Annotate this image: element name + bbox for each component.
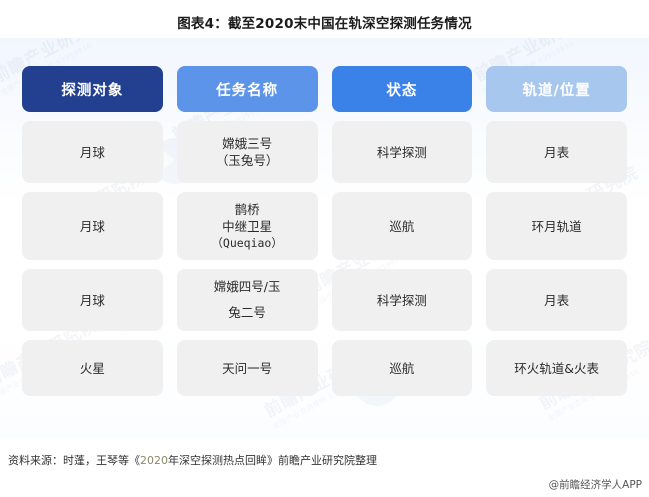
page-title: 图表4：截至2020末中国在轨深空探测任务情况 (0, 12, 649, 32)
cell-mission-line: 鹊桥 (211, 201, 282, 218)
table-row: 月球 嫦娥四号/玉 兔二号 科学探测 月表 (22, 269, 627, 331)
app-credit: @前瞻经济学人APP (549, 477, 642, 492)
column-header-status: 状态 (332, 66, 473, 112)
data-table: 探测对象 任务名称 状态 轨道/位置 月球 嫦娥三号 （玉兔号） 科学探测 月表 (22, 66, 627, 405)
cell-mission: 鹊桥 中继卫星 （Queqiao） (177, 192, 318, 260)
cell-status: 巡航 (332, 192, 473, 260)
cell-target: 月球 (22, 192, 163, 260)
cell-mission-line: （Queqiao） (211, 235, 282, 252)
cell-mission-line: 嫦娥三号 (216, 135, 279, 152)
source-prefix: 资料来源：时蓬，王琴等《 (8, 454, 140, 467)
column-header-mission: 任务名称 (177, 66, 318, 112)
cell-mission-line: 嫦娥四号/玉 (214, 274, 281, 300)
cell-mission: 天问一号 (177, 340, 318, 396)
cell-orbit: 月表 (486, 121, 627, 183)
table-row: 火星 天问一号 巡航 环火轨道&火表 (22, 340, 627, 396)
column-header-orbit: 轨道/位置 (486, 66, 627, 112)
cell-status: 科学探测 (332, 121, 473, 183)
cell-mission-line: （玉兔号） (216, 152, 279, 169)
table-row: 月球 嫦娥三号 （玉兔号） 科学探测 月表 (22, 121, 627, 183)
cell-status: 科学探测 (332, 269, 473, 331)
screenshot-root: 图表4：截至2020末中国在轨深空探测任务情况 前瞻产业研究院全国产业咨询导师·… (0, 0, 649, 497)
source-note: 资料来源：时蓬，王琴等《2020年深空探测热点回眸》前瞻产业研究院整理 (8, 452, 377, 468)
cell-mission-line: 中继卫星 (211, 218, 282, 235)
cell-target: 月球 (22, 269, 163, 331)
table-row: 月球 鹊桥 中继卫星 （Queqiao） 巡航 环月轨道 (22, 192, 627, 260)
cell-status: 巡航 (332, 340, 473, 396)
cell-orbit: 月表 (486, 269, 627, 331)
cell-mission: 嫦娥三号 （玉兔号） (177, 121, 318, 183)
cell-orbit: 环月轨道 (486, 192, 627, 260)
cell-mission-line: 兔二号 (214, 300, 281, 326)
cell-orbit: 环火轨道&火表 (486, 340, 627, 396)
column-header-target: 探测对象 (22, 66, 163, 112)
table-header-row: 探测对象 任务名称 状态 轨道/位置 (22, 66, 627, 112)
cell-mission: 嫦娥四号/玉 兔二号 (177, 269, 318, 331)
cell-target: 火星 (22, 340, 163, 396)
source-year: 2020 (140, 454, 168, 467)
source-suffix: 年深空探测热点回眸》前瞻产业研究院整理 (168, 454, 377, 467)
table-panel: 前瞻产业研究院全国产业咨询导师·83959910 前瞻产业研究院全国产业咨询导师… (0, 38, 649, 438)
cell-target: 月球 (22, 121, 163, 183)
